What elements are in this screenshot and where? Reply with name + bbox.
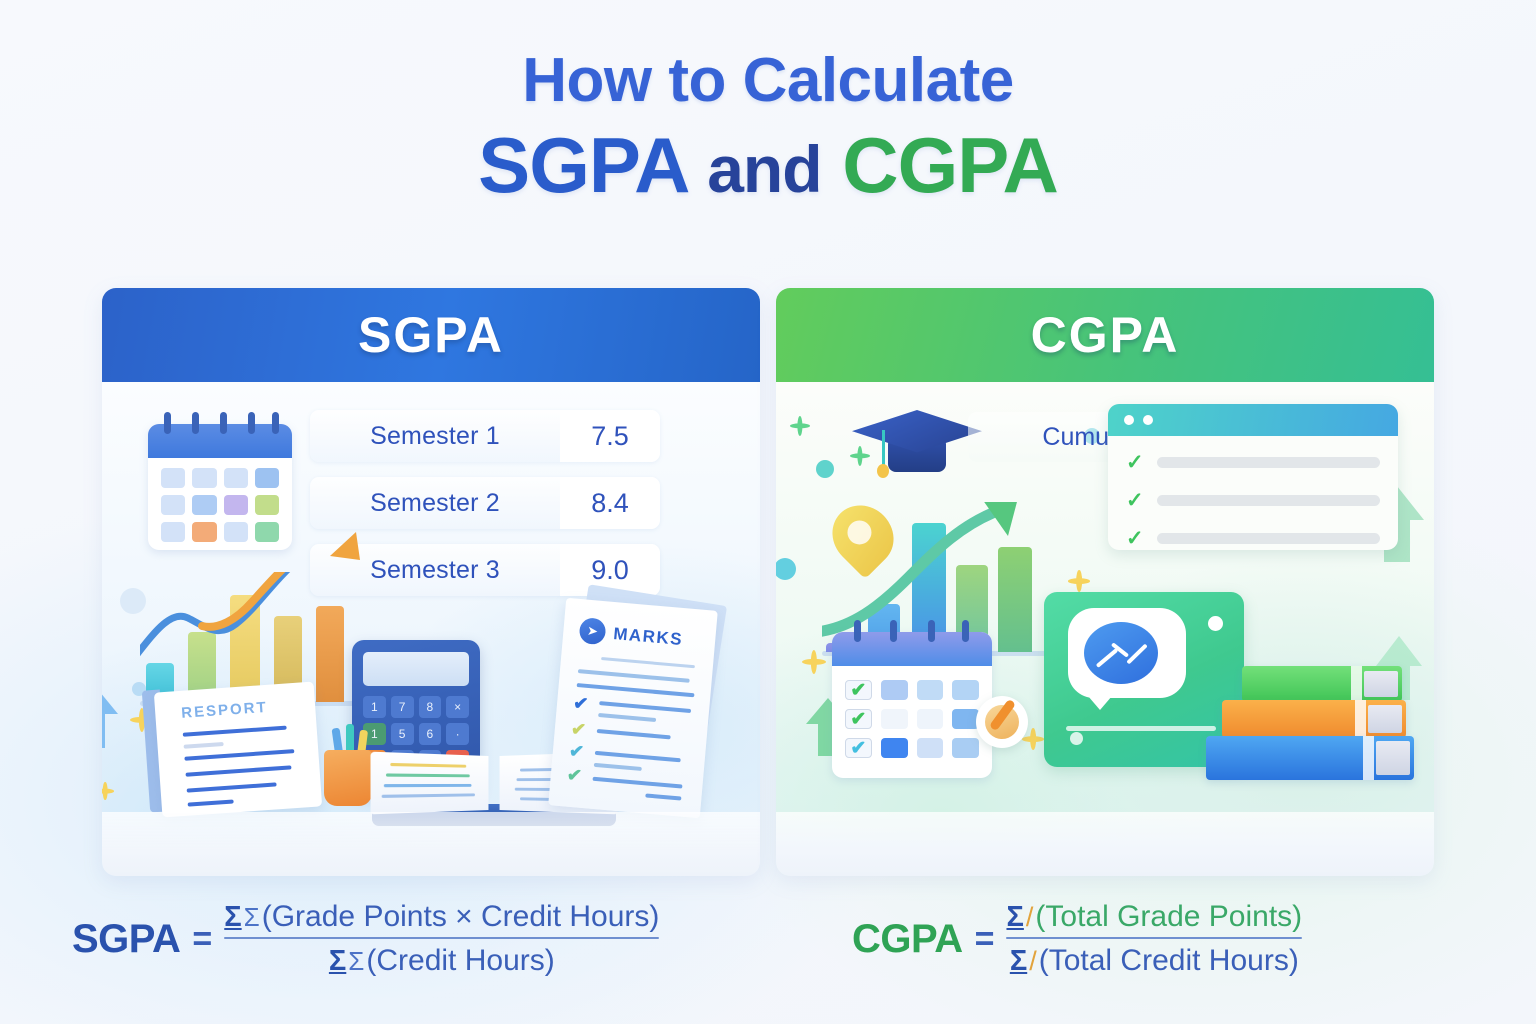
- book-green: [1242, 666, 1402, 702]
- sgpa-denominator: Σ Σ (Credit Hours): [329, 939, 555, 978]
- sgpa-formula: SGPA = Σ Σ (Grade Points × Credit Hours)…: [72, 900, 659, 978]
- sgpa-formula-name: SGPA: [72, 917, 180, 962]
- book-blue: [1206, 736, 1414, 780]
- progress-track: [1157, 533, 1380, 544]
- window-titlebar: [1108, 404, 1398, 436]
- title-word-and: and: [707, 132, 821, 206]
- checklist-row: ✓: [1126, 490, 1380, 511]
- calendar-icon: ✔ ✔ ✔: [832, 618, 992, 778]
- slash-mark: /: [1029, 946, 1037, 977]
- window-dot: [1143, 415, 1153, 425]
- marks-badge-icon: ➤: [578, 617, 606, 645]
- progress-track: [1157, 495, 1380, 506]
- sgpa-panel: SGPA Semester: [102, 288, 760, 876]
- calculator-key: 6: [419, 723, 442, 745]
- calculator-key: ·: [446, 723, 469, 745]
- calculator-key: 1: [363, 696, 386, 718]
- calculator-key: 8: [419, 696, 442, 718]
- sparkle-icon: [790, 416, 810, 436]
- sigma-bold: Σ: [1006, 901, 1023, 934]
- cgpa-header-label: CGPA: [1031, 306, 1180, 364]
- sigma-thin: Σ: [244, 902, 260, 933]
- semester-row[interactable]: Semester 1 7.5: [310, 410, 660, 462]
- stacked-books-icon: [1206, 666, 1416, 786]
- title-line-1: How to Calculate: [0, 50, 1536, 112]
- check-icon: ✓: [1126, 528, 1144, 549]
- cgpa-denominator-text: (Total Credit Hours): [1039, 944, 1299, 978]
- calculator-key: ×: [446, 696, 469, 718]
- sigma-bold: Σ: [329, 945, 346, 978]
- marks-doc-label: MARKS: [613, 624, 684, 650]
- decorative-blob: [816, 460, 834, 478]
- sgpa-panel-header: SGPA: [102, 288, 760, 382]
- calendar-icon: [148, 410, 292, 550]
- cgpa-panel-body: Cumulative Grade: 8.3: [776, 382, 1434, 876]
- clock-badge-icon: [976, 696, 1028, 748]
- graduation-cap-icon: [852, 400, 982, 480]
- decorative-blob: [776, 558, 796, 580]
- semester-value: 8.4: [560, 477, 660, 529]
- decorative-blob: [1208, 616, 1223, 631]
- cgpa-denominator: Σ / (Total Credit Hours): [1010, 939, 1299, 978]
- semester-value: 7.5: [560, 410, 660, 462]
- semester-row[interactable]: Semester 2 8.4: [310, 477, 660, 529]
- cgpa-panel-header: CGPA: [776, 288, 1434, 382]
- checklist-row: ✓: [1126, 528, 1380, 549]
- title-word-cgpa: CGPA: [842, 121, 1058, 209]
- checklist-row: ✓: [1126, 452, 1380, 473]
- checklist-window: ✓ ✓ ✓: [1108, 404, 1398, 550]
- calculator-key: 5: [391, 723, 414, 745]
- sigma-bold: Σ: [224, 901, 241, 934]
- panel-floor: [102, 812, 760, 876]
- arrow-head-icon: [326, 530, 368, 575]
- book-orange: [1222, 700, 1406, 738]
- report-document: RESPORT: [154, 682, 322, 818]
- up-arrow-icon: [102, 682, 122, 752]
- sigma-thin: Σ: [348, 946, 364, 977]
- cgpa-formula-name: CGPA: [852, 917, 963, 962]
- pencil-cup-icon: [324, 750, 372, 806]
- cgpa-formula: CGPA = Σ / (Total Grade Points) Σ / (Tot…: [852, 900, 1302, 978]
- sigma-bold: Σ: [1010, 945, 1027, 978]
- slash-mark: /: [1026, 902, 1034, 933]
- calculator-screen: [363, 652, 469, 686]
- title-line-2: SGPA and CGPA: [0, 126, 1536, 204]
- decorative-blob: [1070, 732, 1083, 745]
- sgpa-numerator: Σ Σ (Grade Points × Credit Hours): [224, 900, 659, 937]
- cgpa-numerator-text: (Total Grade Points): [1035, 900, 1302, 934]
- semester-label: Semester 1: [310, 410, 560, 462]
- sgpa-panel-body: Semester 1 7.5 Semester 2 8.4 Semester 3…: [102, 382, 760, 876]
- cgpa-panel: CGPA Cumulative Grade: 8.3: [776, 288, 1434, 876]
- check-icon: ✓: [1126, 490, 1144, 511]
- sgpa-numerator-text: (Grade Points × Credit Hours): [262, 900, 660, 934]
- marks-document: ➤ MARKS ✔ ✔ ✔ ✔: [548, 598, 718, 818]
- panel-floor: [776, 812, 1434, 876]
- title-word-sgpa: SGPA: [478, 121, 686, 209]
- check-icon: ✓: [1126, 452, 1144, 473]
- sgpa-fraction: Σ Σ (Grade Points × Credit Hours) Σ Σ (C…: [224, 900, 659, 978]
- semester-label: Semester 2: [310, 477, 560, 529]
- cgpa-formula-equals: =: [975, 920, 995, 959]
- window-dot: [1124, 415, 1134, 425]
- progress-track: [1157, 457, 1380, 468]
- calculator-key: 7: [391, 696, 414, 718]
- cgpa-numerator: Σ / (Total Grade Points): [1006, 900, 1302, 937]
- page-title: How to Calculate SGPA and CGPA: [0, 50, 1536, 204]
- sgpa-header-label: SGPA: [358, 306, 504, 364]
- sgpa-formula-equals: =: [192, 920, 212, 959]
- report-doc-label: RESPORT: [181, 699, 268, 722]
- sgpa-bar-chart: [140, 572, 370, 702]
- sgpa-denominator-text: (Credit Hours): [366, 944, 554, 978]
- cgpa-fraction: Σ / (Total Grade Points) Σ / (Total Cred…: [1006, 900, 1302, 978]
- sparkle-icon: [102, 782, 114, 800]
